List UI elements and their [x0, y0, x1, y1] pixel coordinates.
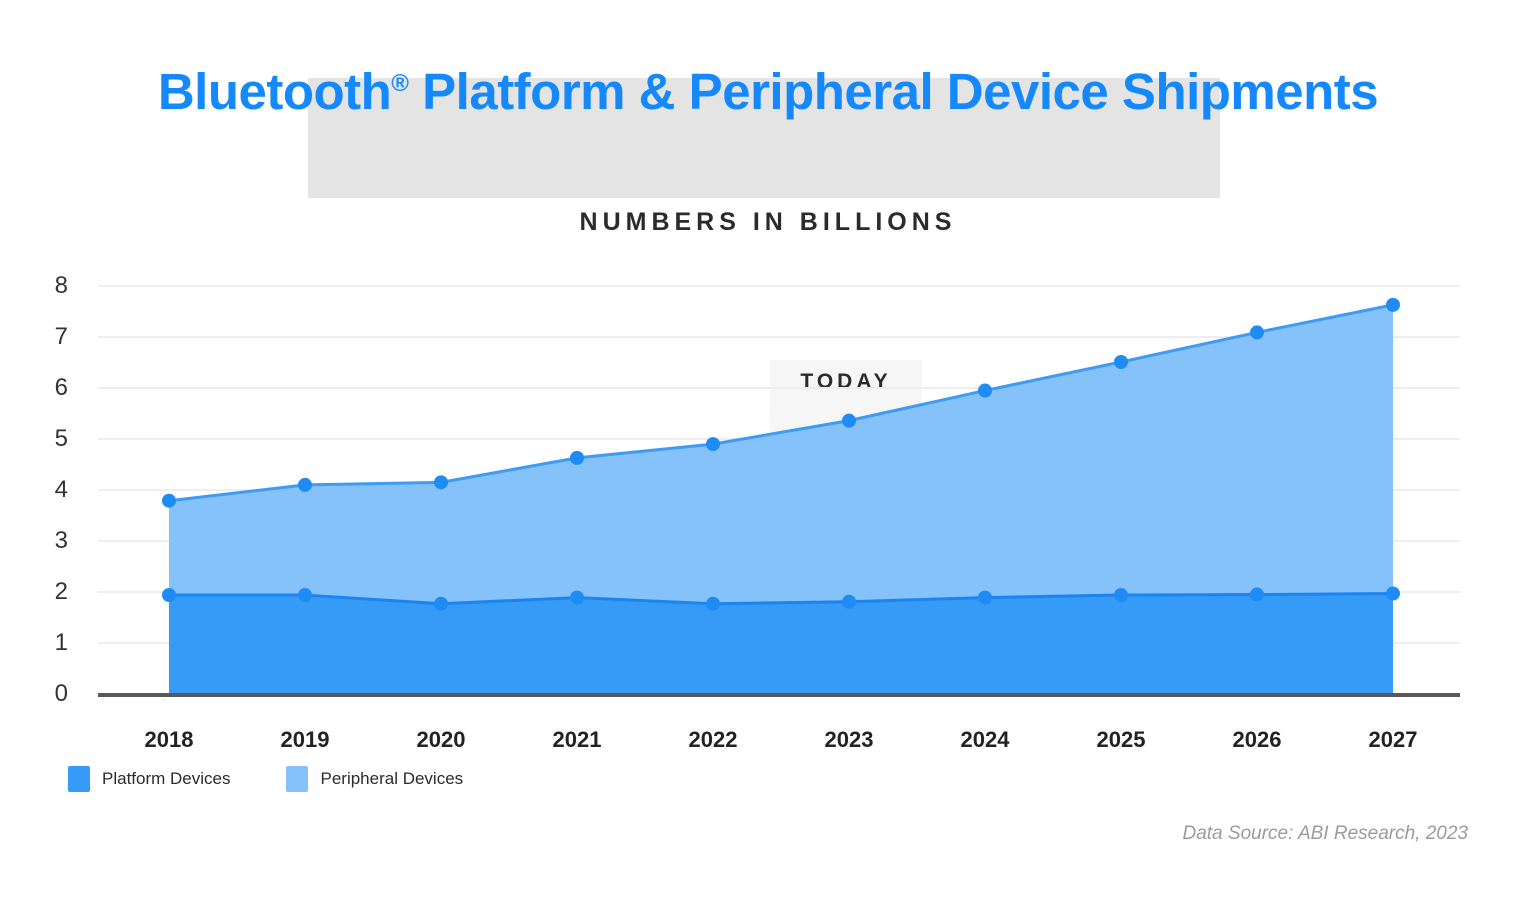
- platform-data-point: [842, 595, 856, 609]
- legend-label: Peripheral Devices: [320, 769, 463, 789]
- y-axis-tick-label: 4: [28, 476, 68, 504]
- y-axis-tick-label: 7: [28, 323, 68, 351]
- x-axis-tick-label: 2026: [1197, 727, 1317, 753]
- x-axis-tick-label: 2023: [789, 727, 909, 753]
- x-axis-tick-label: 2019: [245, 727, 365, 753]
- platform-data-point: [162, 588, 176, 602]
- y-axis-tick-label: 1: [28, 629, 68, 657]
- chart-legend: Platform DevicesPeripheral Devices: [68, 766, 463, 792]
- platform-data-point: [1386, 587, 1400, 601]
- legend-item-peripheral[interactable]: Peripheral Devices: [286, 766, 463, 792]
- legend-item-platform[interactable]: Platform Devices: [68, 766, 230, 792]
- platform-data-point: [1250, 588, 1264, 602]
- peripheral-data-point: [978, 384, 992, 398]
- data-source-note: Data Source: ABI Research, 2023: [1182, 823, 1468, 845]
- peripheral-data-point: [298, 478, 312, 492]
- peripheral-data-point: [570, 451, 584, 465]
- peripheral-data-point: [842, 414, 856, 428]
- y-axis-tick-label: 3: [28, 527, 68, 555]
- platform-data-point: [978, 591, 992, 605]
- y-axis-tick-label: 2: [28, 578, 68, 606]
- x-axis-tick-label: 2027: [1333, 727, 1453, 753]
- x-axis-tick-label: 2018: [109, 727, 229, 753]
- series-areas-group: [169, 305, 1393, 694]
- x-axis-tick-label: 2025: [1061, 727, 1181, 753]
- x-axis-tick-label: 2024: [925, 727, 1045, 753]
- platform-data-point: [570, 591, 584, 605]
- platform-data-point: [706, 597, 720, 611]
- legend-swatch-icon: [286, 766, 308, 792]
- y-axis-tick-label: 5: [28, 425, 68, 453]
- peripheral-data-point: [706, 437, 720, 451]
- platform-data-point: [1114, 588, 1128, 602]
- legend-label: Platform Devices: [102, 769, 230, 789]
- peripheral-data-point: [434, 475, 448, 489]
- platform-data-point: [298, 588, 312, 602]
- peripheral-devices-area: [169, 305, 1393, 604]
- peripheral-data-point: [1386, 298, 1400, 312]
- legend-swatch-icon: [68, 766, 90, 792]
- x-axis-tick-label: 2022: [653, 727, 773, 753]
- peripheral-data-point: [1250, 325, 1264, 339]
- y-axis-tick-label: 0: [28, 680, 68, 708]
- platform-devices-area: [169, 594, 1393, 694]
- x-axis-tick-label: 2021: [517, 727, 637, 753]
- x-axis-tick-label: 2020: [381, 727, 501, 753]
- platform-data-point: [434, 597, 448, 611]
- peripheral-data-point: [162, 494, 176, 508]
- peripheral-data-point: [1114, 355, 1128, 369]
- y-axis-tick-label: 6: [28, 374, 68, 402]
- y-axis-tick-label: 8: [28, 272, 68, 300]
